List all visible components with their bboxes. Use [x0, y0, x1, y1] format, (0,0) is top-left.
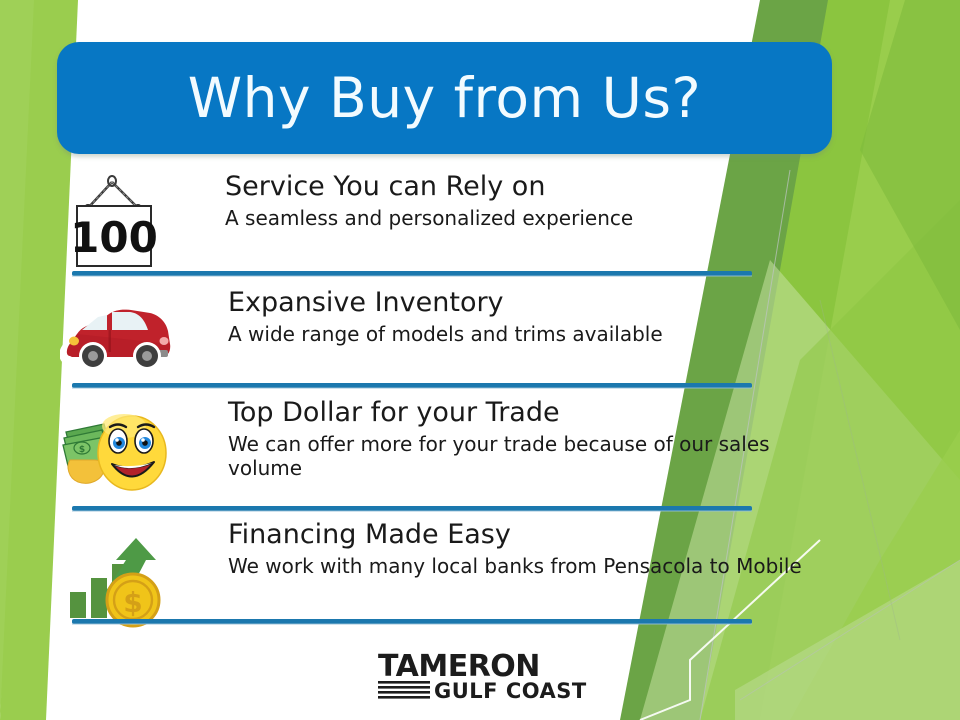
- growth-chart-coin-icon: $: [60, 530, 180, 630]
- title-banner: Why Buy from Us?: [57, 42, 832, 154]
- benefit-text-block: Service You can Rely on A seamless and p…: [225, 172, 760, 231]
- benefit-divider: [72, 506, 752, 511]
- faint-guide-line-4: [820, 300, 900, 640]
- left-green-wedge: [0, 0, 42, 720]
- price-tag-value: 100: [70, 213, 158, 262]
- benefit-text-block: Financing Made Easy We work with many lo…: [228, 520, 813, 579]
- benefit-subtitle: We can offer more for your trade because…: [228, 433, 818, 480]
- benefit-title: Expansive Inventory: [228, 288, 763, 318]
- slide-canvas: Why Buy from Us? 100 Service You can Rel…: [0, 0, 960, 720]
- benefit-divider: [72, 619, 752, 624]
- benefit-title: Financing Made Easy: [228, 520, 813, 550]
- benefit-title: Top Dollar for your Trade: [228, 398, 818, 428]
- benefit-divider: [72, 383, 752, 388]
- right-green-overlay: [860, 0, 960, 330]
- price-tag-100-icon: 100: [60, 172, 180, 272]
- benefit-title: Service You can Rely on: [225, 172, 760, 202]
- logo-secondary-text: GULF COAST: [434, 679, 587, 703]
- smiley-with-money-icon: $: [60, 398, 180, 498]
- benefit-text-block: Expansive Inventory A wide range of mode…: [228, 288, 763, 347]
- benefit-subtitle: A seamless and personalized experience: [225, 207, 760, 231]
- benefit-divider: [72, 271, 752, 276]
- coin-dollar-symbol: $: [123, 586, 142, 619]
- benefit-subtitle: We work with many local banks from Pensa…: [228, 555, 813, 579]
- svg-text:$: $: [79, 445, 85, 455]
- faint-guide-line-3: [740, 560, 960, 700]
- right-green-pale: [735, 560, 960, 720]
- benefit-subtitle: A wide range of models and trims availab…: [228, 323, 763, 347]
- page-title: Why Buy from Us?: [188, 66, 701, 130]
- tameron-gulf-coast-logo: TAMERON GULF COAST: [378, 648, 588, 704]
- benefit-text-block: Top Dollar for your Trade We can offer m…: [228, 398, 818, 480]
- red-car-icon: [60, 288, 180, 388]
